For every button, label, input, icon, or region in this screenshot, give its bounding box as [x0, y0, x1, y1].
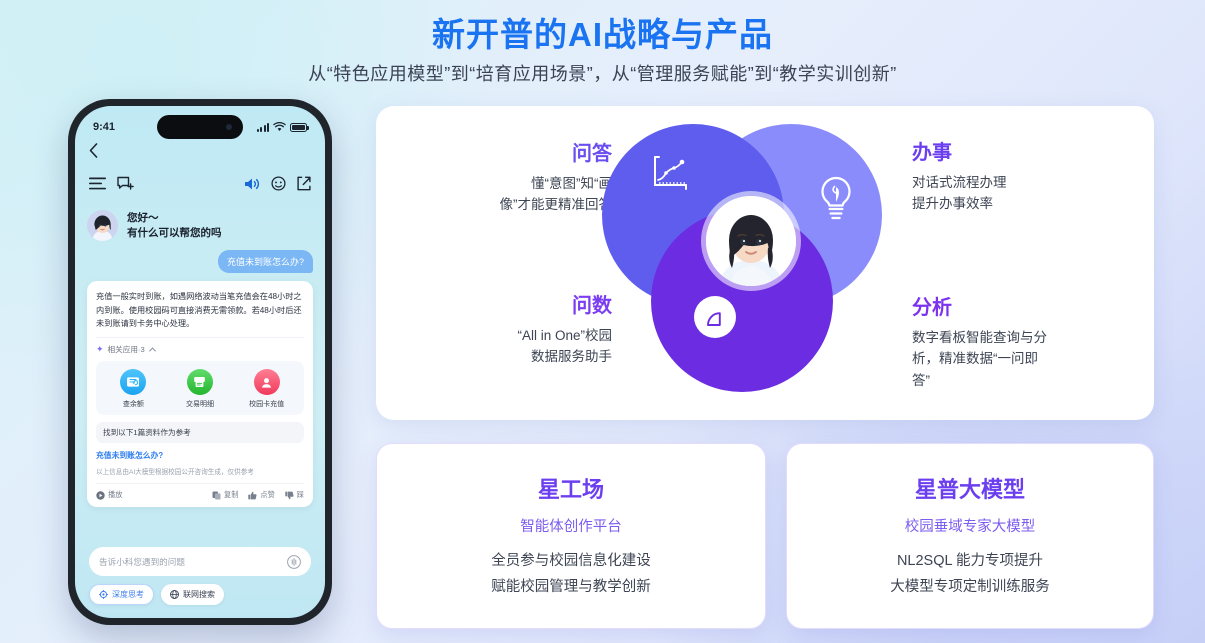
new-chat-icon[interactable]: [117, 176, 134, 191]
play-icon: [96, 491, 105, 500]
card-topup-icon: [254, 369, 280, 395]
chat-input[interactable]: 告诉小科您遇到的问题: [89, 547, 311, 576]
phone-mockup: 9:41: [68, 99, 332, 625]
mode-chips: 深度思考 联网搜索: [89, 584, 311, 605]
pie-chart-glyph-icon: [705, 307, 726, 328]
input-zone: 告诉小科您遇到的问题 深度思考: [75, 547, 325, 605]
related-apps-label: 相关应用·3: [108, 344, 145, 355]
receipt-icon: [187, 369, 213, 395]
wifi-icon: [273, 122, 286, 132]
answer-text: 充值一般实时到账，如遇网络波动当笔充值会在48小时之内到账。使用校园码可直接消费…: [96, 290, 304, 330]
toolbar-left-group: [89, 176, 134, 191]
quadrant-title: 办事: [912, 136, 1112, 165]
phone-notch: [157, 115, 243, 139]
page-title: 新开普的AI战略与产品: [0, 8, 1205, 56]
fenxi-line1: 数字看板智能查询与分: [912, 330, 1047, 345]
answer-divider: [96, 337, 304, 338]
chat-toolbar: [75, 176, 325, 191]
assistant-avatar-icon: [706, 196, 796, 286]
copy-icon: [212, 491, 221, 500]
action-label: 复制: [224, 490, 238, 500]
globe-icon: [170, 590, 179, 599]
card-title: 星普大模型: [915, 472, 1025, 504]
fenxi-line3: 答”: [912, 373, 930, 388]
greeting-text: 您好～ 有什么可以帮您的吗: [127, 210, 222, 241]
card-line1: NL2SQL 能力专项提升: [897, 549, 1043, 574]
greeting-line1: 您好～: [127, 212, 159, 224]
play-action[interactable]: 播放: [96, 490, 122, 500]
deep-think-chip[interactable]: 深度思考: [89, 584, 154, 605]
card-line2: 赋能校园管理与教学创新: [491, 575, 651, 600]
source-link[interactable]: 充值未到账怎么办?: [96, 450, 304, 461]
speaker-icon[interactable]: [244, 177, 260, 191]
wallet-icon: [120, 369, 146, 395]
assistant-avatar-icon: [87, 210, 118, 241]
user-message-bubble: 充值未到账怎么办?: [218, 250, 313, 273]
status-icons: [257, 122, 308, 132]
slide-root: 新开普的AI战略与产品 从“特色应用模型”到“培育应用场景”，从“管理服务赋能”…: [0, 0, 1205, 643]
lightbulb-icon: [818, 176, 854, 222]
battery-icon: [290, 123, 307, 132]
center-avatar: [706, 196, 796, 286]
banshi-line2: 提升办事效率: [912, 196, 993, 211]
card-subtitle: 校园垂域专家大模型: [905, 515, 1036, 536]
status-time: 9:41: [93, 121, 115, 133]
banshi-line1: 对话式流程办理: [912, 175, 1007, 190]
card-title: 星工场: [538, 472, 604, 504]
voice-icon[interactable]: [287, 555, 301, 569]
like-action[interactable]: 点赞: [248, 490, 274, 500]
search-input-placeholder: 告诉小科您遇到的问题: [99, 556, 185, 568]
action-label: 踩: [297, 490, 304, 500]
quadrant-desc: 对话式流程办理 提升办事效率: [912, 172, 1112, 215]
share-icon[interactable]: [297, 176, 311, 191]
assistant-greeting: 您好～ 有什么可以帮您的吗: [87, 210, 313, 241]
card-line1: 全员参与校园信息化建设: [491, 549, 651, 574]
card-topup-glyph-icon: [260, 376, 273, 389]
quadrant-desc: 数字看板智能查询与分 析，精准数据“一问即 答”: [912, 327, 1128, 391]
message-actions: 播放 复制: [96, 483, 304, 500]
product-card-xinggongchang: 星工场 智能体创作平台 全员参与校园信息化建设 赋能校园管理与教学创新: [376, 443, 766, 629]
app-item[interactable]: 查余额: [107, 369, 159, 409]
answer-card: 充值一般实时到账，如遇网络波动当笔充值会在48小时之内到账。使用校园码可直接消费…: [87, 281, 313, 507]
related-apps-list: 查余额 交易明细: [96, 361, 304, 415]
found-sources-label: 找到以下1篇资料作为参考: [96, 422, 304, 443]
chip-label: 联网搜索: [183, 589, 215, 600]
venn-diagram: [596, 116, 906, 411]
quadrant-title: 问数: [412, 289, 612, 318]
card-subtitle: 智能体创作平台: [520, 515, 622, 536]
app-label: 交易明细: [174, 399, 226, 409]
quadrant-fenxi: 分析 数字看板智能查询与分 析，精准数据“一问即 答”: [912, 291, 1128, 391]
app-label: 校园卡充值: [241, 399, 293, 409]
page-subtitle: 从“特色应用模型”到“培育应用场景”，从“管理服务赋能”到“教学实训创新”: [0, 60, 1205, 86]
app-label: 查余额: [107, 399, 159, 409]
quadrant-title: 分析: [912, 291, 1128, 320]
card-line2: 大模型专项定制训练服务: [890, 575, 1050, 600]
menu-icon[interactable]: [89, 177, 106, 190]
quadrant-wenda: 问答 懂“意图”知“画 像”才能更精准回答: [412, 137, 612, 216]
product-card-xingpu-model: 星普大模型 校园垂域专家大模型 NL2SQL 能力专项提升 大模型专项定制训练服…: [786, 443, 1154, 629]
app-item[interactable]: 交易明细: [174, 369, 226, 409]
pie-chart-icon: [694, 296, 736, 338]
line-chart-icon: [652, 156, 690, 190]
wallet-glyph-icon: [126, 376, 140, 388]
capabilities-card: 问答 懂“意图”知“画 像”才能更精准回答 问数 “All in One”校园 …: [376, 106, 1154, 420]
app-item[interactable]: 校园卡充值: [241, 369, 293, 409]
chevron-up-icon: [149, 347, 156, 352]
quadrant-banshi: 办事 对话式流程办理 提升办事效率: [912, 136, 1112, 215]
sparkle-icon: ✦: [96, 344, 104, 355]
chip-label: 深度思考: [112, 589, 144, 600]
action-label: 点赞: [260, 490, 274, 500]
greeting-line2: 有什么可以帮您的吗: [127, 227, 222, 239]
quadrant-wenshu: 问数 “All in One”校园 数据服务助手: [412, 289, 612, 368]
quadrant-desc: “All in One”校园 数据服务助手: [412, 325, 612, 368]
signal-bars-icon: [257, 123, 270, 132]
dislike-action[interactable]: 踩: [285, 490, 304, 500]
quadrant-title: 问答: [412, 137, 612, 166]
receipt-glyph-icon: [193, 376, 206, 388]
quadrant-desc: 懂“意图”知“画 像”才能更精准回答: [412, 173, 612, 216]
copy-action[interactable]: 复制: [212, 490, 238, 500]
back-button[interactable]: [89, 143, 98, 163]
history-icon[interactable]: [271, 176, 286, 191]
back-chevron-icon: [89, 143, 98, 158]
action-label: 播放: [108, 490, 122, 500]
brain-icon: [99, 590, 108, 599]
thumb-down-icon: [285, 491, 294, 500]
toolbar-right-group: [244, 176, 311, 191]
disclaimer-text: 以上信息由AI大模型根据校园公开咨询生成，仅供参考: [96, 466, 304, 476]
chat-area: 您好～ 有什么可以帮您的吗 充值未到账怎么办? 充值一般实时到账，如遇网络波动当…: [75, 206, 325, 534]
phone-screen: 9:41: [75, 106, 325, 618]
fenxi-line2: 析，精准数据“一问即: [912, 351, 1038, 366]
avatar: [87, 210, 118, 241]
web-search-chip[interactable]: 联网搜索: [161, 584, 224, 605]
thumb-up-icon: [248, 491, 257, 500]
related-apps-header[interactable]: ✦ 相关应用·3: [96, 344, 304, 355]
